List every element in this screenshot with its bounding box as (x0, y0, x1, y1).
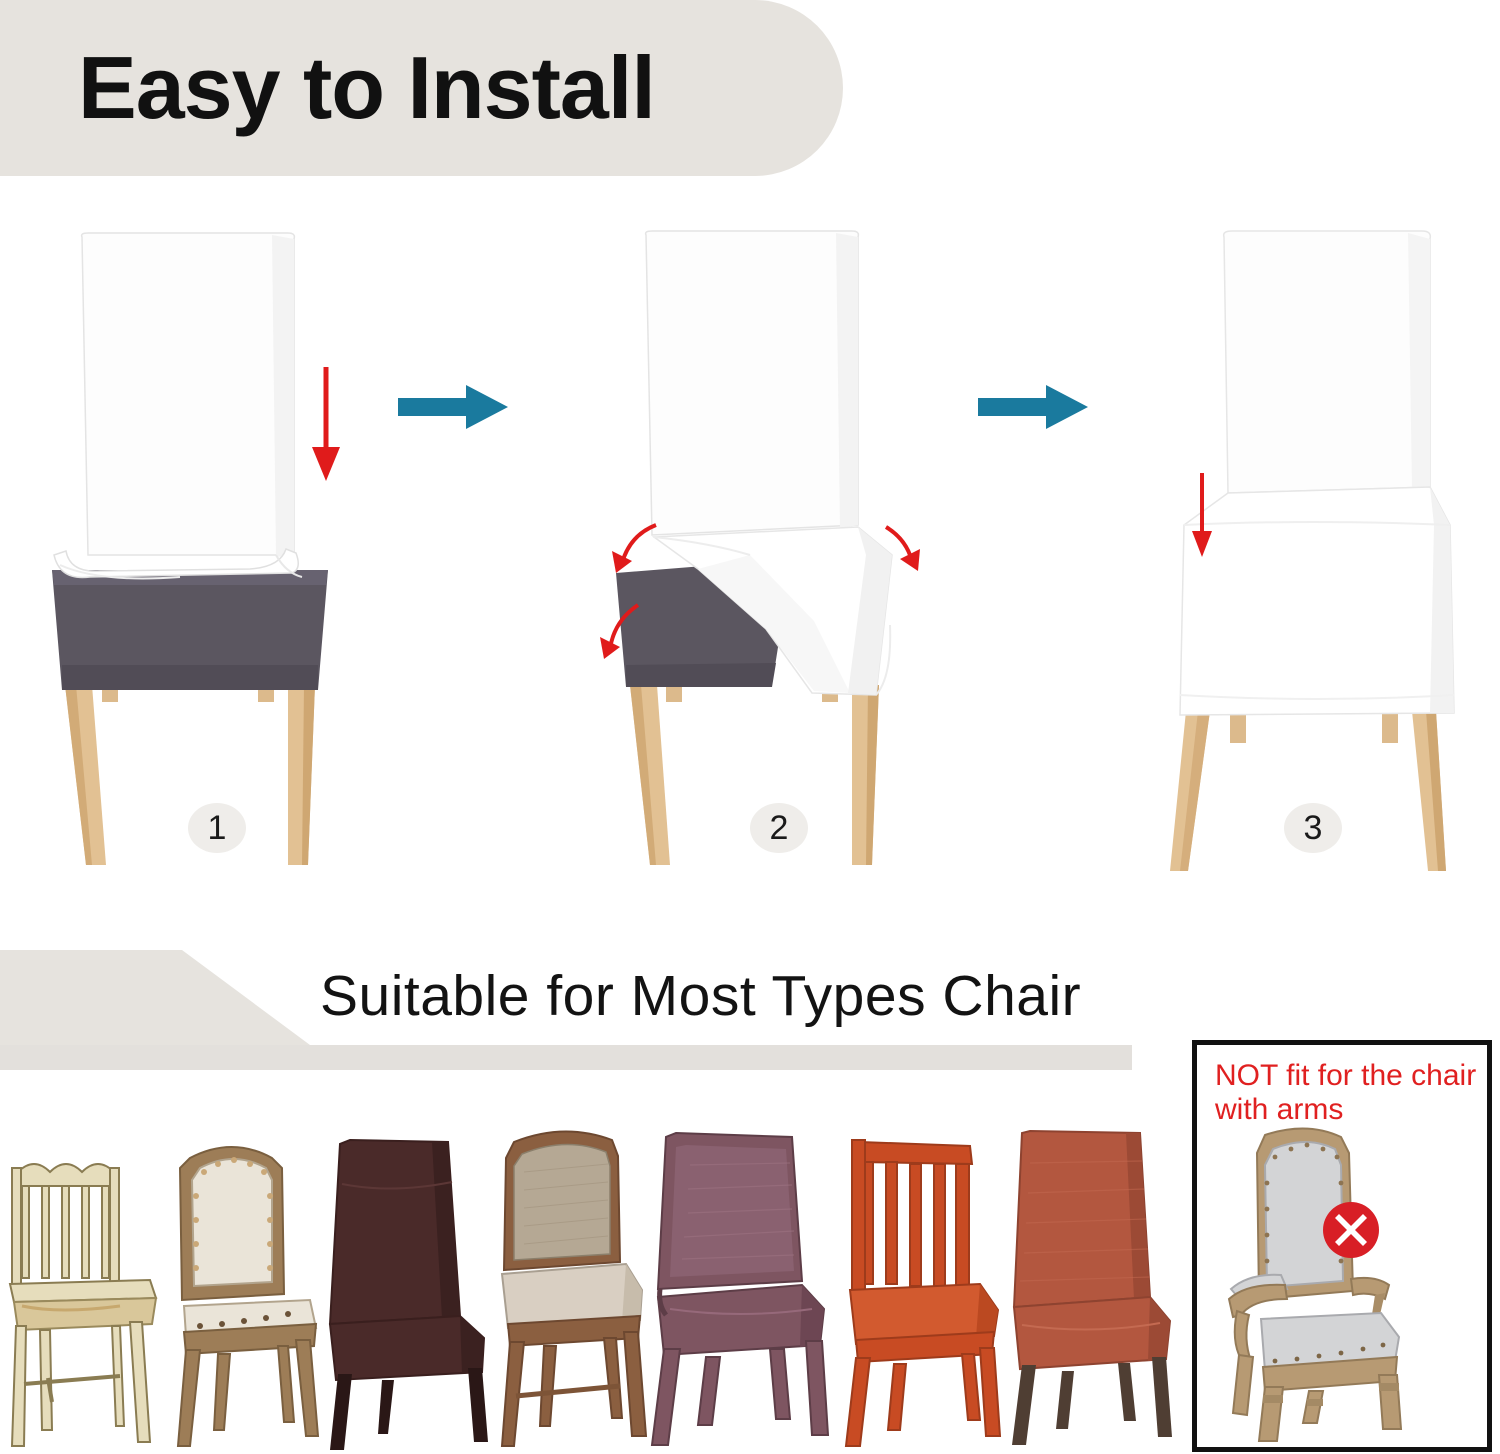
gallery-chair-terracotta (1000, 1119, 1175, 1454)
teal-arrow-2 (978, 385, 1090, 429)
install-step-2: 2 (600, 225, 960, 915)
suitable-section-title: Suitable for Most Types Chair (320, 963, 1081, 1029)
gallery-chair-brown-leather (322, 1124, 492, 1454)
red-down-arrow-1 (312, 367, 340, 481)
red-x-circle-icon (1321, 1200, 1381, 1260)
gallery-chair-gold-napoleon (0, 1134, 160, 1454)
chair-gallery (0, 1100, 1180, 1454)
step-badge-1: 1 (188, 803, 246, 853)
gallery-chair-walnut-beige (480, 1114, 650, 1454)
teal-arrow-1-shaft (398, 398, 470, 416)
warning-text: NOT fit for the chair with arms (1215, 1059, 1485, 1127)
gallery-chair-mauve-banquet (640, 1119, 830, 1454)
install-step-3: 3 (1150, 225, 1480, 915)
gallery-chair-wood-nailhead (160, 1124, 320, 1454)
chair-cover-3 (1180, 231, 1454, 715)
easy-to-install-section: Easy to Install (0, 0, 1500, 945)
step-badge-2: 2 (750, 803, 808, 853)
install-section-title: Easy to Install (78, 40, 655, 136)
suitable-banner-bar (0, 1045, 1132, 1070)
suitable-banner-shape (0, 950, 310, 1045)
chair-seat-1 (52, 570, 328, 690)
teal-arrow-1-head (466, 385, 508, 429)
warning-box: NOT fit for the chair with arms (1192, 1040, 1492, 1452)
teal-arrow-1 (398, 385, 510, 429)
chair-cover-1 (54, 233, 302, 579)
install-step-1: 1 (40, 225, 400, 915)
gallery-chair-orange-slat (838, 1124, 1003, 1454)
chair-cover-2 (646, 231, 859, 535)
teal-arrow-2-head (1046, 385, 1088, 429)
suitable-chairs-section: Suitable for Most Types Chair (0, 945, 1500, 1454)
teal-arrow-2-shaft (978, 398, 1050, 416)
warning-armchair-illustration (1203, 1123, 1491, 1443)
step-badge-3: 3 (1284, 803, 1342, 853)
